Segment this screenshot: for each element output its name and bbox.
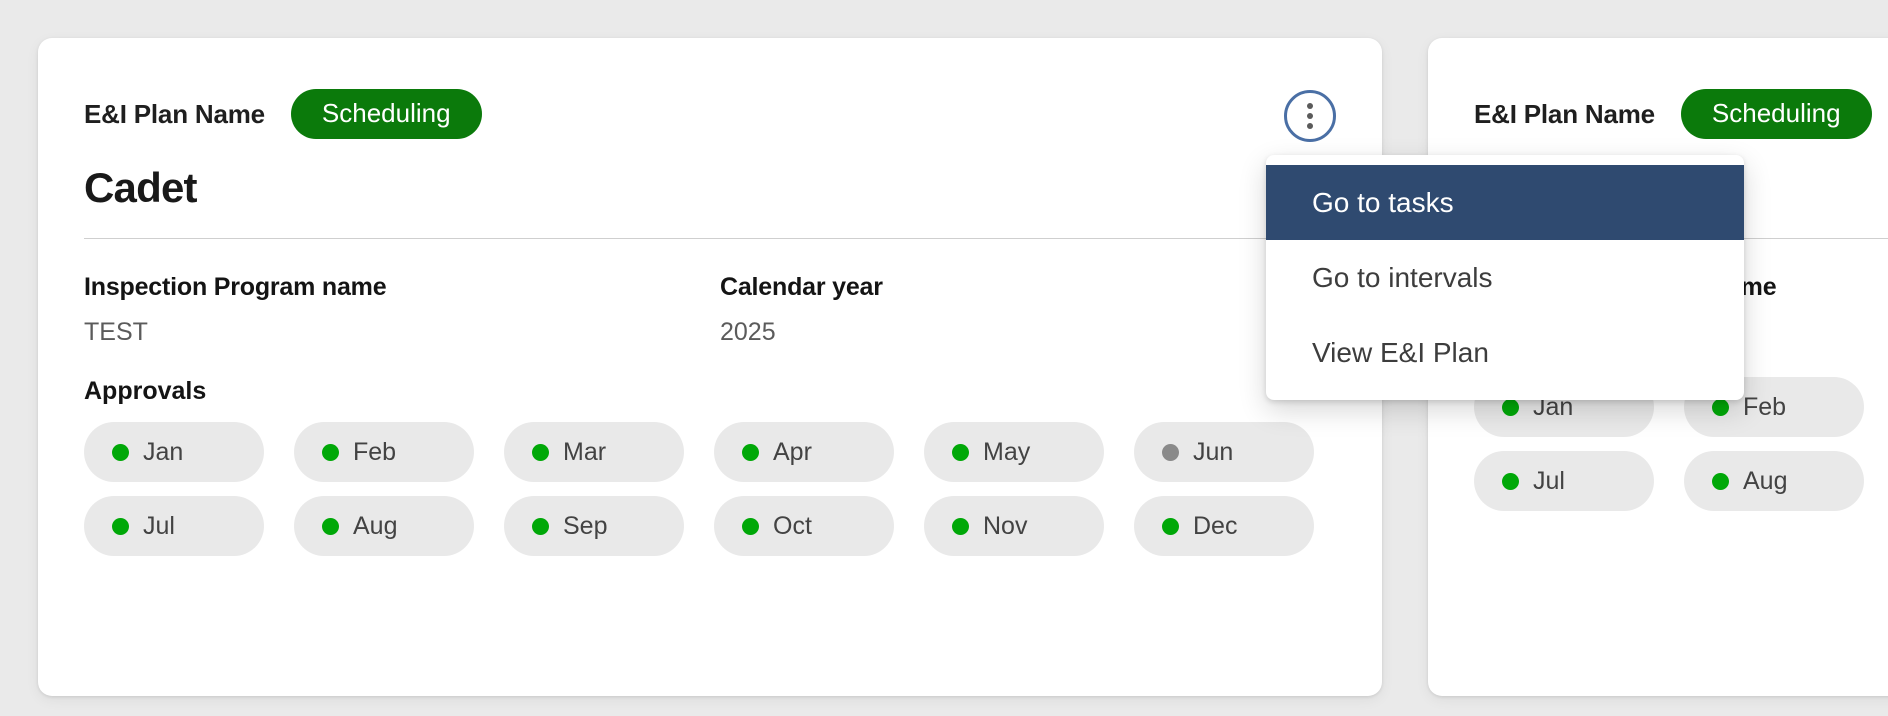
menu-item-go-to-intervals[interactable]: Go to intervals: [1266, 240, 1744, 315]
status-dot-icon: [532, 444, 549, 461]
status-dot-icon: [1712, 399, 1729, 416]
month-label: Feb: [1743, 393, 1786, 422]
month-label: Apr: [773, 438, 812, 467]
card-header: E&I Plan Name Scheduling: [1474, 84, 1888, 144]
status-dot-icon: [1502, 399, 1519, 416]
status-dot-icon: [952, 444, 969, 461]
menu-item-view-ei-plan[interactable]: View E&I Plan: [1266, 315, 1744, 390]
status-dot-icon: [322, 518, 339, 535]
approvals-section-label: Approvals: [84, 377, 1336, 406]
context-menu: Go to tasks Go to intervals View E&I Pla…: [1266, 155, 1744, 400]
status-badge: Scheduling: [1681, 89, 1872, 139]
month-chip[interactable]: Apr: [714, 422, 894, 482]
month-chip[interactable]: Sep: [504, 496, 684, 556]
meta-field-inspection-program: Inspection Program name TEST: [84, 273, 720, 347]
month-chip[interactable]: Dec: [1134, 496, 1314, 556]
status-dot-icon: [1162, 444, 1179, 461]
status-dot-icon: [952, 518, 969, 535]
plan-name-label: E&I Plan Name: [1474, 99, 1655, 130]
status-dot-icon: [742, 444, 759, 461]
month-chip[interactable]: May: [924, 422, 1104, 482]
month-chip[interactable]: Oct: [714, 496, 894, 556]
approvals-month-grid: Jan Feb Mar Apr May Jun: [84, 422, 1336, 556]
month-label: May: [983, 438, 1030, 467]
month-chip[interactable]: Aug: [294, 496, 474, 556]
status-dot-icon: [742, 518, 759, 535]
month-label: Jan: [143, 438, 183, 467]
month-label: Jun: [1193, 438, 1233, 467]
meta-field-calendar-year: Calendar year 2025: [720, 273, 1356, 347]
month-label: Nov: [983, 512, 1027, 541]
more-vertical-icon[interactable]: [1284, 90, 1336, 142]
menu-item-go-to-tasks[interactable]: Go to tasks: [1266, 165, 1744, 240]
month-chip[interactable]: Nov: [924, 496, 1104, 556]
plan-name-label: E&I Plan Name: [84, 99, 265, 130]
kebab-dot-1: [1307, 103, 1313, 109]
month-chip[interactable]: Jul: [1474, 451, 1654, 511]
header-divider: [84, 238, 1336, 239]
month-chip[interactable]: Mar: [504, 422, 684, 482]
month-label: Feb: [353, 438, 396, 467]
month-label: Aug: [353, 512, 397, 541]
month-label: Aug: [1743, 467, 1787, 496]
status-dot-icon: [112, 444, 129, 461]
month-chip[interactable]: Aug: [1684, 451, 1864, 511]
month-label: Jul: [1533, 467, 1565, 496]
month-label: Jul: [143, 512, 175, 541]
month-chip[interactable]: Jul: [84, 496, 264, 556]
month-label: Sep: [563, 512, 607, 541]
kebab-dot-2: [1307, 113, 1313, 119]
plan-card-primary: E&I Plan Name Scheduling Cadet Inspectio…: [38, 38, 1382, 696]
meta-row: Inspection Program name TEST Calendar ye…: [84, 273, 1336, 347]
status-dot-icon: [1712, 473, 1729, 490]
meta-label: Calendar year: [720, 273, 1356, 302]
month-label: Oct: [773, 512, 812, 541]
status-dot-icon: [322, 444, 339, 461]
meta-label: Inspection Program name: [84, 273, 720, 302]
card-header: E&I Plan Name Scheduling: [84, 84, 1336, 144]
status-dot-icon: [532, 518, 549, 535]
status-badge: Scheduling: [291, 89, 482, 139]
meta-value: TEST: [84, 318, 720, 347]
status-dot-icon: [1502, 473, 1519, 490]
month-chip[interactable]: Feb: [294, 422, 474, 482]
page-title: Cadet: [84, 166, 1336, 210]
status-dot-icon: [112, 518, 129, 535]
month-chip[interactable]: Jan: [84, 422, 264, 482]
month-label: Mar: [563, 438, 606, 467]
month-chip[interactable]: Jun: [1134, 422, 1314, 482]
status-dot-icon: [1162, 518, 1179, 535]
meta-value: 2025: [720, 318, 1356, 347]
month-label: Dec: [1193, 512, 1237, 541]
kebab-dot-3: [1307, 123, 1313, 129]
